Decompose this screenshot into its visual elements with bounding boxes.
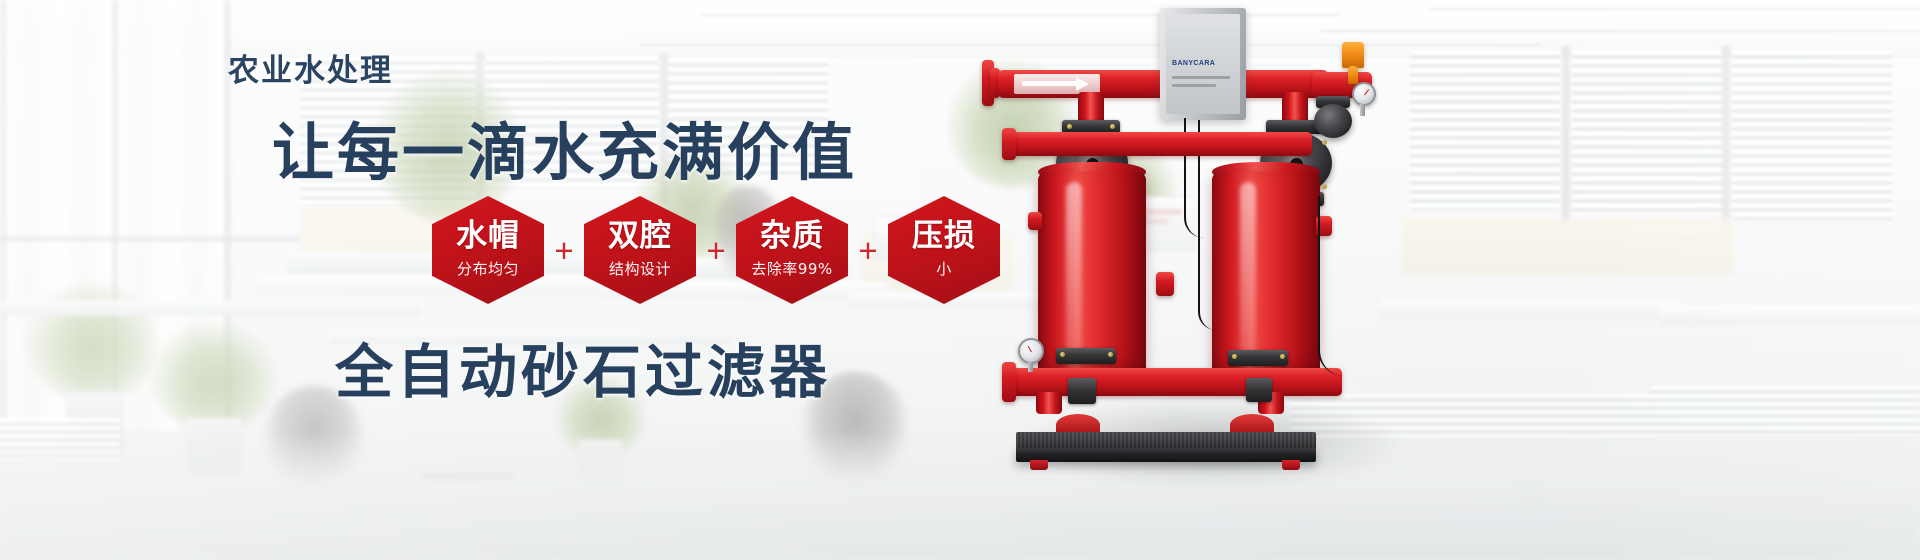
tank-side-port (1156, 272, 1174, 296)
relief-valve-neck (1348, 66, 1358, 84)
valve-bolt (1060, 352, 1065, 357)
feature-badge-3[interactable]: 杂质 去除率99% (736, 196, 848, 304)
promo-banner: BANYCARA (0, 0, 1920, 560)
plus-separator-1: + (544, 234, 584, 267)
outlet-manifold (1012, 368, 1342, 396)
valve-bolt (1110, 124, 1115, 129)
tank-highlight (1240, 182, 1256, 368)
relief-valve (1342, 42, 1364, 68)
base-frame (1016, 448, 1316, 462)
valve-bolt (1232, 354, 1237, 359)
valve-bolt (1108, 352, 1113, 357)
badge-title: 水帽 (456, 221, 520, 253)
valve-bolt (1280, 354, 1285, 359)
tank-highlight (1066, 182, 1082, 368)
badge-subtitle: 分布均匀 (457, 258, 519, 279)
solenoid-valve (1246, 378, 1272, 402)
base-foot (1282, 460, 1300, 470)
valve-bolt (1067, 124, 1072, 129)
valve-bolt (1322, 184, 1327, 189)
banner-copy: 农业水处理 让每一滴水充满价值 全自动砂石过滤器 水帽 分布均匀 + 双腔 结构… (0, 0, 1040, 560)
badge-subtitle: 去除率99% (751, 258, 832, 279)
solenoid-valve (1068, 378, 1096, 404)
feature-badge-2[interactable]: 双腔 结构设计 (584, 196, 696, 304)
controller-strip (1172, 84, 1216, 87)
plus-separator-2: + (696, 234, 736, 267)
eyebrow-text: 农业水处理 (228, 45, 393, 90)
feature-badge-row: 水帽 分布均匀 + 双腔 结构设计 + 杂质 去除率99% + 压损 小 (432, 196, 1000, 304)
badge-subtitle: 小 (936, 258, 952, 279)
product-title: 全自动砂石过滤器 (335, 325, 831, 409)
sensor-cable (1318, 196, 1344, 376)
lower-valve-collar-left (1056, 348, 1116, 364)
badge-title: 压损 (912, 221, 976, 253)
mid-cross-pipe (1012, 132, 1312, 156)
gauge-stem (1360, 104, 1365, 116)
feature-badge-4[interactable]: 压损 小 (888, 196, 1000, 304)
badge-subtitle: 结构设计 (609, 258, 671, 279)
flow-arrow-head (1076, 77, 1089, 91)
controller-strip (1172, 76, 1230, 79)
plus-separator-3: + (848, 234, 888, 267)
lower-valve-collar-right (1228, 350, 1288, 366)
valve-bolt (1322, 140, 1327, 145)
headline-text: 让每一滴水充满价值 (272, 102, 857, 192)
badge-title: 杂质 (760, 221, 824, 253)
feature-badge-1[interactable]: 水帽 分布均匀 (432, 196, 544, 304)
upper-right-valve (1314, 104, 1352, 138)
controller-logo-text: BANYCARA (1172, 60, 1215, 67)
badge-title: 双腔 (608, 221, 672, 253)
